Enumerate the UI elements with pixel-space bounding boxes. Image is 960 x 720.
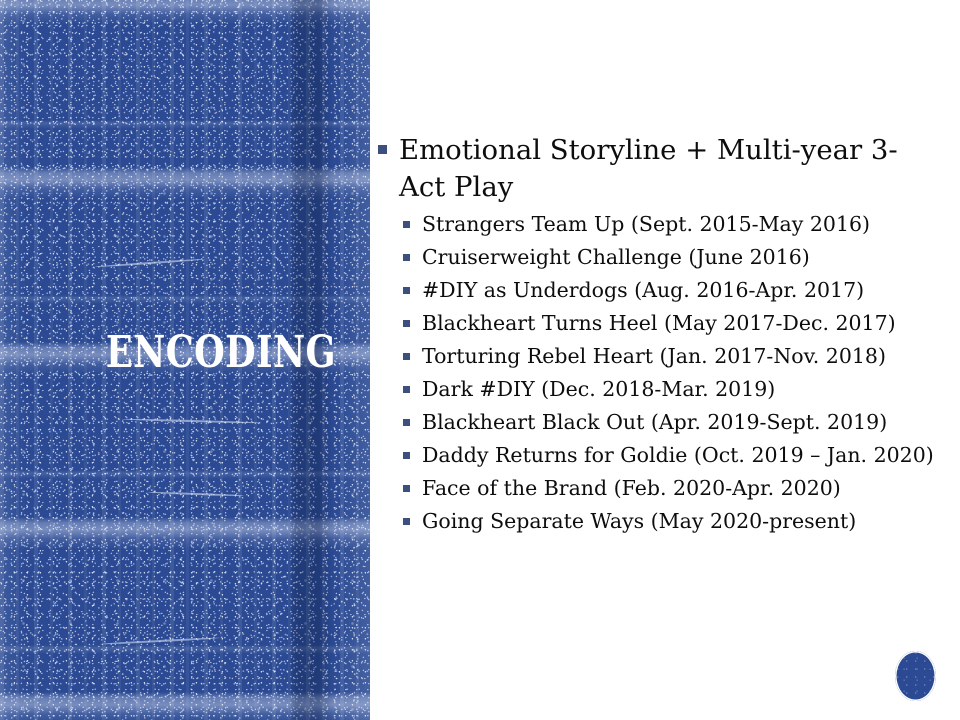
list-item: Going Separate Ways (May 2020-present) (399, 507, 939, 535)
texture-scratch-mark (122, 418, 260, 424)
list-item-label: Blackheart Black Out (Apr. 2019-Sept. 20… (422, 410, 887, 434)
list-item: Blackheart Black Out (Apr. 2019-Sept. 20… (399, 408, 939, 436)
texture-scratch-mark (148, 491, 244, 496)
list-item-level1-label: Emotional Storyline + Multi-year 3-Act P… (399, 134, 898, 203)
square-bullet-icon (403, 386, 410, 393)
list-item-label: Torturing Rebel Heart (Jan. 2017-Nov. 20… (422, 344, 886, 368)
slide-title: ENCODING (67, 327, 336, 379)
texture-scratch-mark (95, 258, 205, 268)
square-bullet-icon (403, 419, 410, 426)
square-bullet-icon (378, 145, 387, 154)
square-bullet-icon (403, 320, 410, 327)
list-item: Daddy Returns for Goldie (Oct. 2019 – Ja… (399, 441, 939, 469)
list-item: Face of the Brand (Feb. 2020-Apr. 2020) (399, 474, 939, 502)
list-item: Strangers Team Up (Sept. 2015-May 2016) (399, 210, 939, 238)
oval-accent-icon (895, 651, 936, 701)
list-item-label: Dark #DIY (Dec. 2018-Mar. 2019) (422, 377, 775, 401)
list-item: #DIY as Underdogs (Aug. 2016-Apr. 2017) (399, 276, 939, 304)
list-item-label: Blackheart Turns Heel (May 2017-Dec. 201… (422, 311, 896, 335)
list-item-label: Daddy Returns for Goldie (Oct. 2019 – Ja… (422, 443, 934, 467)
list-item: Blackheart Turns Heel (May 2017-Dec. 201… (399, 309, 939, 337)
square-bullet-icon (403, 221, 410, 228)
list-item-label: Going Separate Ways (May 2020-present) (422, 509, 856, 533)
list-item-level1: Emotional Storyline + Multi-year 3-Act P… (377, 132, 939, 535)
square-bullet-icon (403, 452, 410, 459)
list-item-label: Strangers Team Up (Sept. 2015-May 2016) (422, 212, 870, 236)
square-bullet-icon (403, 485, 410, 492)
list-item-label: #DIY as Underdogs (Aug. 2016-Apr. 2017) (422, 278, 864, 302)
list-item: Torturing Rebel Heart (Jan. 2017-Nov. 20… (399, 342, 939, 370)
title-panel-background: ENCODING (0, 0, 370, 720)
list-item: Cruiserweight Challenge (June 2016) (399, 243, 939, 271)
square-bullet-icon (403, 518, 410, 525)
list-item-label: Cruiserweight Challenge (June 2016) (422, 245, 810, 269)
texture-scratch-mark (100, 637, 220, 645)
oval-texture (895, 651, 936, 701)
list-item-label: Face of the Brand (Feb. 2020-Apr. 2020) (422, 476, 841, 500)
presentation-slide: ENCODING Emotional Storyline + Multi-yea… (0, 0, 960, 720)
list-item: Dark #DIY (Dec. 2018-Mar. 2019) (399, 375, 939, 403)
square-bullet-icon (403, 287, 410, 294)
bullet-list-level1: Emotional Storyline + Multi-year 3-Act P… (377, 132, 939, 535)
square-bullet-icon (403, 353, 410, 360)
bullet-list-level2: Strangers Team Up (Sept. 2015-May 2016) … (399, 210, 939, 535)
slide-body-content: Emotional Storyline + Multi-year 3-Act P… (377, 132, 939, 541)
square-bullet-icon (403, 254, 410, 261)
